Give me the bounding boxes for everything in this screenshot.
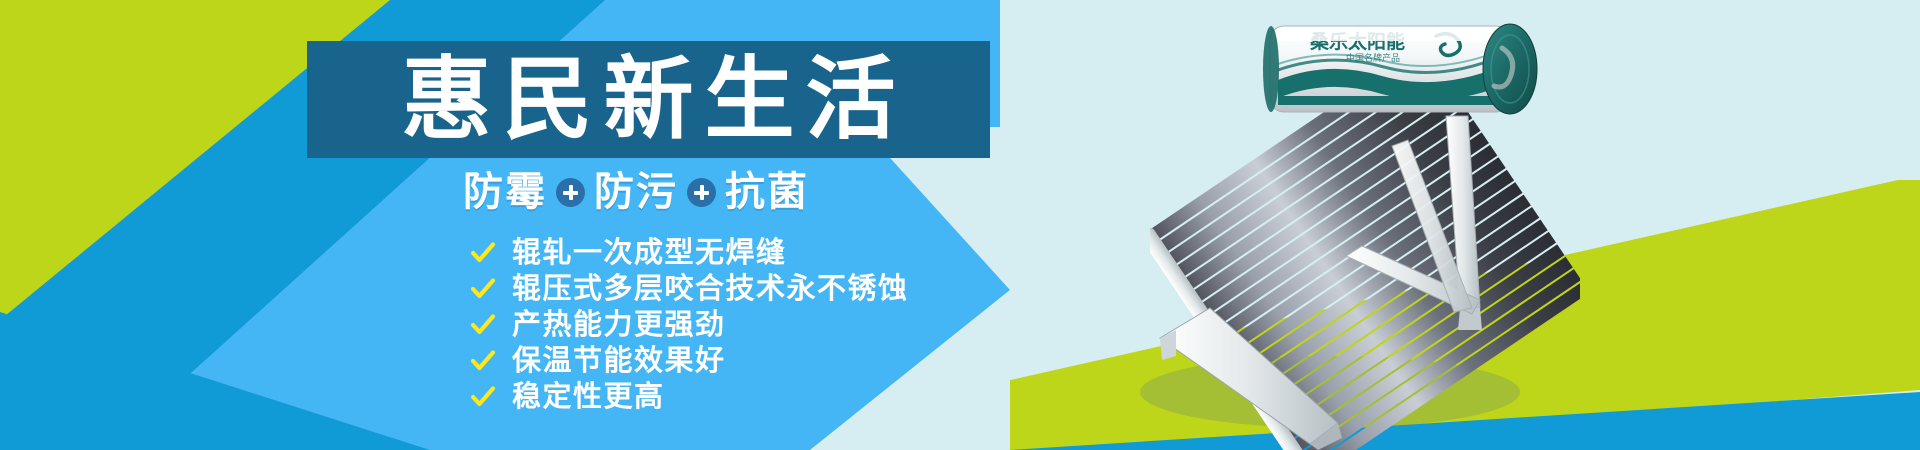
check-icon — [470, 384, 496, 410]
list-item: 稳定性更高 — [470, 382, 909, 411]
plus-badge-icon — [556, 178, 585, 207]
plus-badge-icon — [687, 178, 716, 207]
title-plaque: 惠民新生活 — [307, 41, 990, 158]
list-item-label: 辊压式多层咬合技术永不锈蚀 — [512, 274, 909, 303]
subtitle-word-3: 抗菌 — [725, 172, 809, 212]
subtitle-row: 防霉 防污 抗菌 — [463, 172, 809, 212]
list-item-label: 保温节能效果好 — [512, 346, 726, 375]
check-icon — [470, 240, 496, 266]
water-tank: 桑乐太阳能 中国名牌产品 — [1263, 24, 1537, 114]
list-item: 辊轧一次成型无焊缝 — [470, 238, 909, 267]
list-item-label: 产热能力更强劲 — [512, 310, 726, 339]
list-item-label: 辊轧一次成型无焊缝 — [512, 238, 787, 267]
solar-water-heater-image: 桑乐太阳能 中国名牌产品 — [1150, 8, 1580, 450]
subtitle-word-2: 防污 — [594, 172, 678, 212]
list-item-label: 稳定性更高 — [512, 382, 665, 411]
list-item: 保温节能效果好 — [470, 346, 909, 375]
check-icon — [470, 348, 496, 374]
list-item: 辊压式多层咬合技术永不锈蚀 — [470, 274, 909, 303]
promo-banner: 惠民新生活 防霉 防污 抗菌 辊轧一次成型无焊缝 辊压式多层咬合技术永不锈蚀 产… — [0, 0, 1920, 450]
tank-sub-text: 中国名牌产品 — [1346, 52, 1400, 64]
check-icon — [470, 312, 496, 338]
feature-list: 辊轧一次成型无焊缝 辊压式多层咬合技术永不锈蚀 产热能力更强劲 保温节能效果好 — [470, 238, 909, 411]
banner-title: 惠民新生活 — [391, 55, 907, 145]
check-icon — [470, 276, 496, 302]
subtitle-word-1: 防霉 — [463, 172, 547, 212]
list-item: 产热能力更强劲 — [470, 310, 909, 339]
